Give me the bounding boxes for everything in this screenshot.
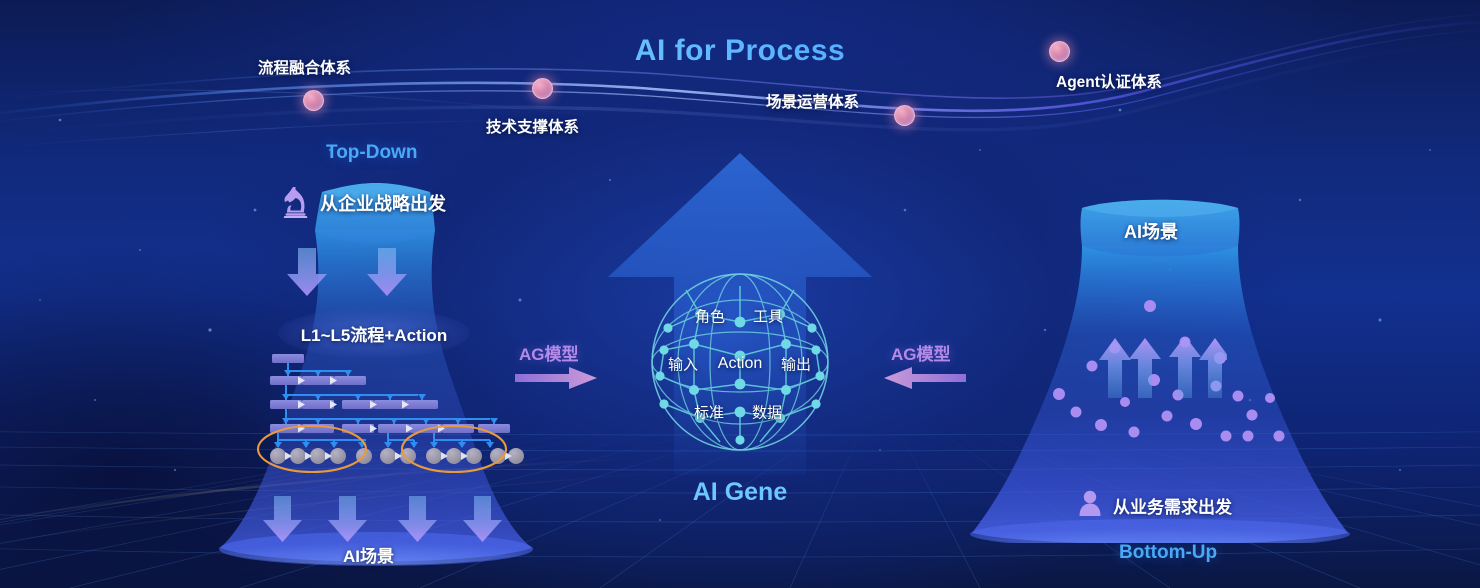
left-funnel-top-text: 从企业战略出发 xyxy=(320,190,446,216)
highlight-ellipses xyxy=(255,424,525,474)
ai-gene-cell: 输入 xyxy=(668,354,698,375)
right-funnel-top-text: AI场景 xyxy=(1124,218,1178,244)
ai-gene-cell: 工具 xyxy=(753,306,783,327)
left-funnel-pill-label: L1~L5流程+Action xyxy=(278,308,470,358)
right-funnel-bottom-text: 从业务需求出发 xyxy=(1113,493,1232,518)
node-label-tech-support: 技术支撑体系 xyxy=(486,115,579,137)
ai-gene-cell: 输出 xyxy=(781,354,811,375)
node-label-process-integration: 流程融合体系 xyxy=(258,56,351,78)
left-funnel-bottom-text: AI场景 xyxy=(343,542,394,567)
ai-gene-cell: Action xyxy=(718,355,762,373)
node-label-scenario-ops: 场景运营体系 xyxy=(766,90,859,112)
ai-gene-cell: 角色 xyxy=(695,306,725,327)
node-dot-scenario-ops xyxy=(894,105,915,126)
person-icon xyxy=(1078,490,1102,516)
left-funnel-caption: Top-Down xyxy=(326,142,417,164)
node-dot-process-integration xyxy=(303,90,324,111)
ai-gene-cell: 标准 xyxy=(694,402,724,423)
page-title: AI for Process xyxy=(0,34,1480,68)
chess-knight-icon xyxy=(281,184,311,218)
node-label-agent-certification: Agent认证体系 xyxy=(1056,70,1162,92)
ag-model-label-left: AG模型 xyxy=(519,340,579,365)
node-dot-tech-support xyxy=(532,78,553,99)
ag-model-arrow-left-icon xyxy=(884,366,966,390)
ag-model-arrow-right-icon xyxy=(515,366,597,390)
right-funnel-caption: Bottom-Up xyxy=(1119,542,1217,564)
left-funnel-top-down-arrows xyxy=(282,248,422,300)
infographic-canvas: AI for Process 流程融合体系 技术支撑体系 场景运营体系 Agen… xyxy=(0,0,1480,588)
ai-gene-cell: 数据 xyxy=(752,402,782,423)
ag-model-label-right: AG模型 xyxy=(891,340,951,365)
right-funnel-up-arrows xyxy=(1092,338,1227,398)
node-dot-agent-certification xyxy=(1049,41,1070,62)
